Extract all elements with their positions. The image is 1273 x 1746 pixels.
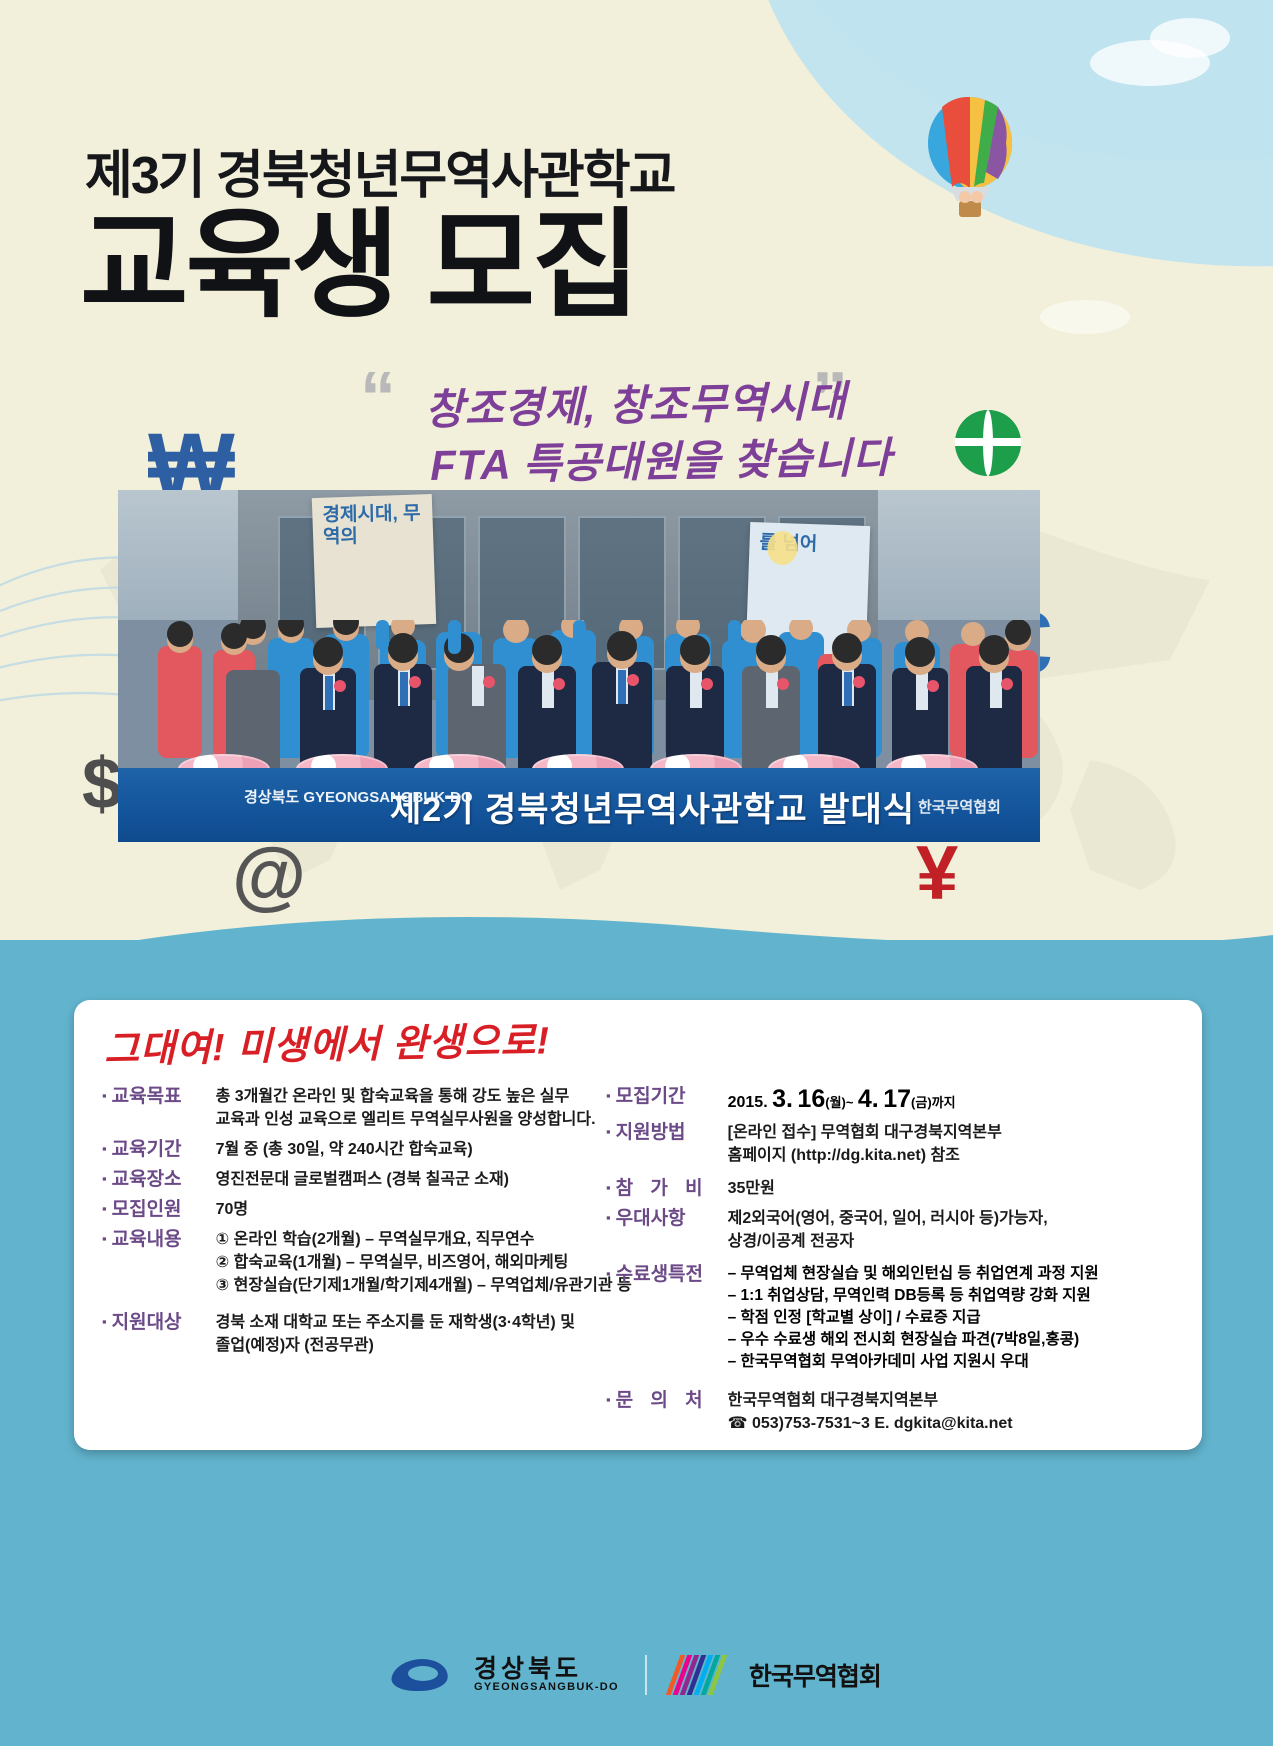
info-label: 지원대상 [112,1311,216,1334]
info-item-benefits: ▪ 수료생특전 – 무역업체 현장실습 및 해외인턴십 등 취업연계 과정 지원… [606,1263,1186,1373]
period-end-month: 4. [858,1085,879,1113]
photo-banner-left-text: 경제시대, 무역의 [312,495,433,557]
period-year: 2015. [728,1094,768,1111]
logo-divider [645,1655,647,1695]
hot-air-balloon-icon [915,95,1025,245]
bullet-icon: ▪ [102,1168,107,1190]
period-start-month: 3. [772,1085,793,1113]
gyeongsangbuk-logo-text: 경상북도 GYEONGSANGBUK-DO [474,1656,619,1694]
period-end-day: 17 [883,1085,911,1113]
kita-logo-icon [666,1655,731,1695]
info-item-quota: ▪ 모집인원 70명 [102,1198,622,1221]
poster-root: 제3기 경북청년무역사관학교 교육생 모집 “ ” 창조경제, 창조무역시대 F… [0,0,1273,1746]
yen-currency-icon: ¥ [916,836,958,912]
info-item-fee: ▪ 참 가 비 35만원 [606,1177,1186,1200]
bullet-icon: ▪ [102,1138,107,1160]
gyeongsangbuk-korean: 경상북도 [474,1656,619,1682]
info-value-line: – 1:1 취업상담, 무역인력 DB등록 등 취업역량 강화 지원 [728,1285,1099,1307]
info-value-line: – 한국무역협회 무역아카데미 사업 지원시 우대 [728,1351,1099,1373]
info-label: 문 의 처 [616,1389,728,1412]
period-start-day: 16 [797,1085,825,1113]
cloud-shape [1040,300,1130,334]
photo-banner-left: 경제시대, 무역의 [312,494,436,628]
info-label: 교육장소 [112,1168,216,1191]
bullet-icon: ▪ [606,1207,611,1229]
bullet-icon: ▪ [102,1311,107,1333]
bullet-icon: ▪ [606,1263,611,1285]
bullet-icon: ▪ [102,1198,107,1220]
dollar-currency-icon: $ [82,748,122,820]
info-item-goal: ▪ 교육목표 총 3개월간 온라인 및 합숙교육을 통해 강도 높은 실무 교육… [102,1085,622,1131]
cloud-shape [1150,18,1230,58]
info-label: 참 가 비 [616,1177,728,1200]
info-value-line: 35만원 [728,1177,775,1200]
bullet-icon: ▪ [102,1085,107,1107]
info-value-line: [온라인 접수] 무역협회 대구경북지역본부 [728,1121,1002,1144]
quote-open-icon: “ [360,362,396,434]
info-item-preference: ▪ 우대사항 제2외국어(영어, 중국어, 일어, 러시아 등)가능자, 상경/… [606,1207,1186,1253]
info-value-line: 경북 소재 대학교 또는 주소지를 둔 재학생(3·4학년) 및 [216,1311,575,1334]
info-value-line: – 우수 수료생 해외 전시회 현장실습 파견(7박8일,홍콩) [728,1329,1099,1351]
info-value-line: ① 온라인 학습(2개월) – 무역실무개요, 직무연수 [216,1228,632,1251]
kita-logo-text: 한국무역협회 [749,1657,881,1693]
info-item-period: ▪ 교육기간 7월 중 (총 30일, 약 240시간 합숙교육) [102,1138,622,1161]
period-end-dow: (금)까지 [911,1095,956,1110]
bullet-icon: ▪ [606,1121,611,1143]
info-item-eligibility: ▪ 지원대상 경북 소재 대학교 또는 주소지를 둔 재학생(3·4학년) 및 … [102,1311,622,1357]
info-value-line: 한국무역협회 대구경북지역본부 [728,1389,1013,1412]
bullet-icon: ▪ [606,1085,611,1107]
info-item-curriculum: ▪ 교육내용 ① 온라인 학습(2개월) – 무역실무개요, 직무연수 ② 합숙… [102,1228,622,1297]
gyeongsangbuk-logo-icon [392,1655,448,1695]
period-start-dow: (월)~ [825,1095,853,1110]
bullet-icon: ▪ [606,1389,611,1411]
bullet-icon: ▪ [606,1177,611,1199]
info-label: 모집인원 [112,1198,216,1221]
info-label: 지원방법 [616,1121,728,1144]
info-value-line: 졸업(예정)자 (전공무관) [216,1334,575,1357]
globe-icon [955,410,1021,476]
info-label: 우대사항 [616,1207,728,1230]
tagline-line-2: FTA 특공대원을 찾습니다 [430,424,893,493]
ribbon-logo-gyeongsangbuk: 경상북도 GYEONGSANGBUK-DO [244,786,473,807]
event-photo: 경제시대, 무역의 를 넘어 [118,490,1040,842]
info-label: 교육목표 [112,1085,216,1108]
ribbon-logo-kita: 한국무역협회 [918,796,1001,817]
info-value-line: 70명 [216,1198,249,1221]
info-value-line: – 무역업체 현장실습 및 해외인턴십 등 취업연계 과정 지원 [728,1263,1099,1285]
info-value-line: ② 합숙교육(1개월) – 무역실무, 비즈영어, 해외마케팅 [216,1251,632,1274]
info-value-line: – 학점 인정 [학교별 상이] / 수료증 지급 [728,1307,1099,1329]
bullet-icon: ▪ [102,1228,107,1250]
info-item-venue: ▪ 교육장소 영진전문대 글로벌캠퍼스 (경북 칠곡군 소재) [102,1168,622,1191]
at-sign-icon: @ [232,838,306,914]
card-slogan: 그대여! 미생에서 완생으로! [103,1009,550,1073]
info-label: 교육기간 [112,1138,216,1161]
info-value-line: 홈페이지 (http://dg.kita.net) 참조 [728,1144,1002,1167]
page-subtitle: 제3기 경북청년무역사관학교 [85,133,674,208]
info-item-contact: ▪ 문 의 처 한국무역협회 대구경북지역본부 ☎ 053)753-7531~3… [606,1389,1186,1435]
info-item-application-period: ▪ 모집기간 2015. 3. 16(월)~ 4. 17(금)까지 [606,1085,1186,1114]
info-value-line: 총 3개월간 온라인 및 합숙교육을 통해 강도 높은 실무 [216,1085,596,1108]
info-value-line: 제2외국어(영어, 중국어, 일어, 러시아 등)가능자, [728,1207,1048,1230]
info-item-how-to-apply: ▪ 지원방법 [온라인 접수] 무역협회 대구경북지역본부 홈페이지 (http… [606,1121,1186,1167]
info-left-column: ▪ 교육목표 총 3개월간 온라인 및 합숙교육을 통해 강도 높은 실무 교육… [102,1085,622,1364]
footer-logos: 경상북도 GYEONGSANGBUK-DO 한국무역협회 [0,1640,1273,1710]
info-label: 모집기간 [616,1085,728,1108]
info-value-period: 2015. 3. 16(월)~ 4. 17(금)까지 [728,1085,956,1114]
info-value-line: 교육과 인성 교육으로 엘리트 무역실무사원을 양성합니다. [216,1108,596,1131]
info-label: 수료생특전 [616,1263,728,1286]
gyeongsangbuk-english: GYEONGSANGBUK-DO [474,1682,619,1694]
info-value-line: 상경/이공계 전공자 [728,1230,1048,1253]
contact-phone-email: ☎ 053)753-7531~3 E. dgkita@kita.net [728,1412,1013,1435]
page-title: 교육생 모집 [80,205,638,329]
info-label: 교육내용 [112,1228,216,1251]
info-value-line: ③ 현장실습(단기제1개월/학기제4개월) – 무역업체/유관기관 등 [216,1274,632,1297]
info-right-column: ▪ 모집기간 2015. 3. 16(월)~ 4. 17(금)까지 ▪ 지원방법… [606,1085,1186,1442]
info-value-line: 영진전문대 글로벌캠퍼스 (경북 칠곡군 소재) [216,1168,509,1191]
info-value-line: 7월 중 (총 30일, 약 240시간 합숙교육) [216,1138,473,1161]
